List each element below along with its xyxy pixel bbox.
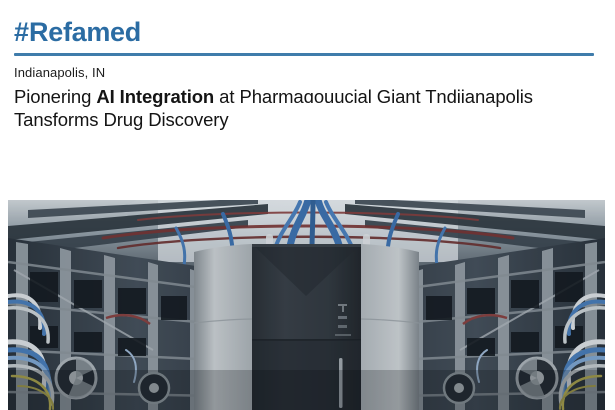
masthead-divider: [14, 53, 594, 56]
article-header: #Refamed Indianapolis, IN Pionering AI I…: [0, 0, 615, 132]
headline-lead: Pionering: [14, 86, 96, 107]
dateline: Indianapolis, IN: [14, 65, 595, 81]
article-card: #Refamed Indianapolis, IN Pionering AI I…: [0, 0, 615, 410]
hero-image: [8, 200, 605, 410]
headline-emphasis: AI Integration: [96, 86, 214, 107]
headline: Pionering AI Integration at Pharmaɑouuci…: [14, 85, 595, 132]
masthead-hash-icon: #: [14, 17, 29, 47]
masthead-name: Refamed: [29, 17, 141, 47]
masthead-logo[interactable]: #Refamed: [14, 18, 595, 46]
hero-image-graphic: [8, 200, 605, 410]
